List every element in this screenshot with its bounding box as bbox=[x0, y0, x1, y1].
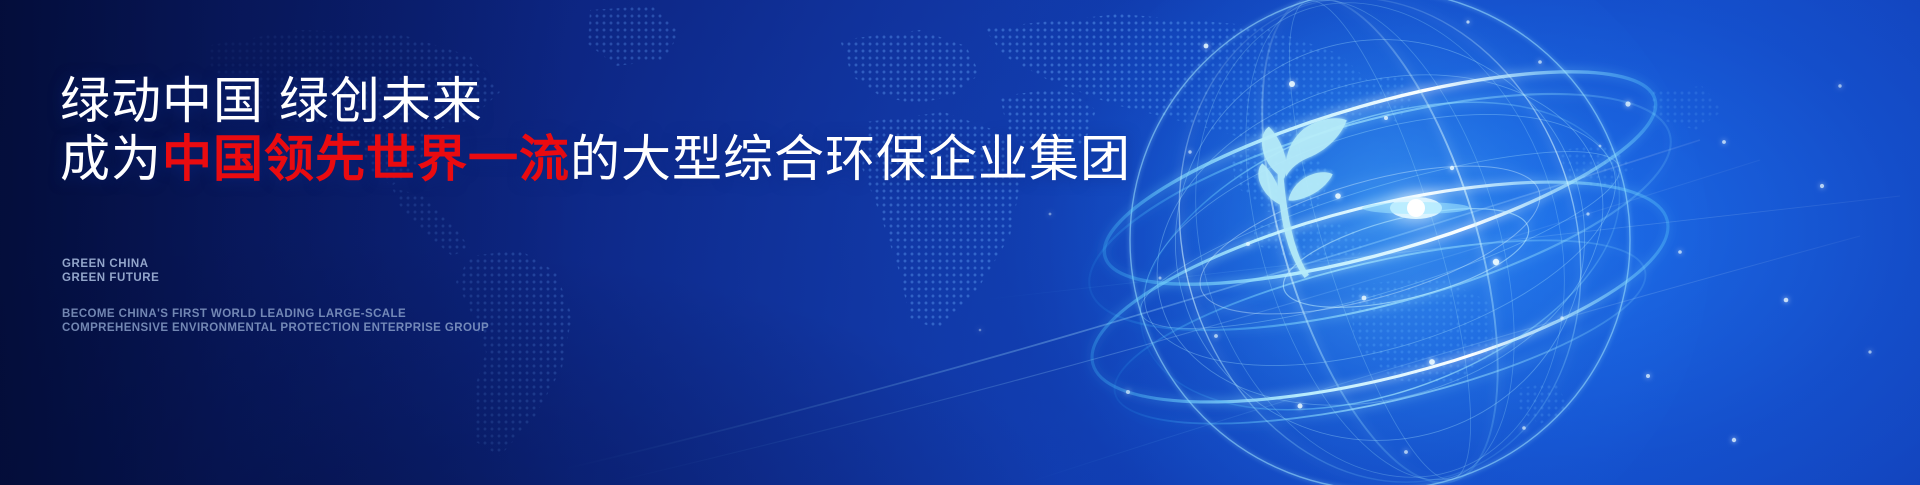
glowing-globe-graphic bbox=[1070, 0, 1690, 485]
headline-secondary-suffix: 的大型综合环保企业集团 bbox=[570, 131, 1131, 187]
english-subtagline-line1: BECOME CHINA'S FIRST WORLD LEADING LARGE… bbox=[62, 308, 489, 322]
headline-secondary: 成为中国领先世界一流的大型综合环保企业集团 bbox=[60, 134, 1131, 184]
hero-banner: 绿动中国 绿创未来 成为中国领先世界一流的大型综合环保企业集团 GREEN CH… bbox=[0, 0, 1920, 485]
banner-copy-block: 绿动中国 绿创未来 成为中国领先世界一流的大型综合环保企业集团 GREEN CH… bbox=[60, 0, 1060, 485]
english-tagline-line1: GREEN CHINA bbox=[62, 258, 159, 272]
sprout-icon bbox=[1258, 118, 1346, 278]
english-subtagline-line2: COMPREHENSIVE ENVIRONMENTAL PROTECTION E… bbox=[62, 322, 489, 336]
english-subtagline: BECOME CHINA'S FIRST WORLD LEADING LARGE… bbox=[62, 308, 489, 335]
english-tagline-line2: GREEN FUTURE bbox=[62, 272, 159, 286]
english-tagline: GREEN CHINA GREEN FUTURE bbox=[62, 258, 159, 285]
globe-glow bbox=[1050, 0, 1710, 485]
headline-primary: 绿动中国 绿创未来 bbox=[60, 76, 483, 126]
headline-secondary-highlight: 中国领先世界一流 bbox=[162, 131, 570, 187]
headline-secondary-prefix: 成为 bbox=[60, 131, 162, 187]
